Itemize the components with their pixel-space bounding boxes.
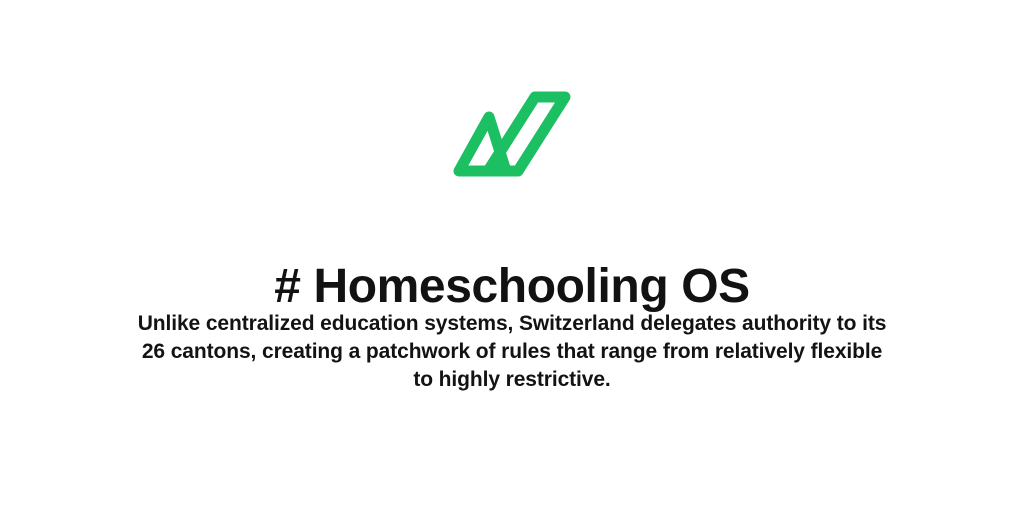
title-slide: # Homeschooling OS Unlike centralized ed… [0,0,1024,512]
page-title: # Homeschooling OS [0,260,1024,314]
subtitle-block: Unlike centralized education systems, Sw… [132,310,892,394]
subtitle-line: to highly restrictive. [132,366,892,394]
brand-mark-n-logo-icon [450,88,574,180]
subtitle-line: 26 cantons, creating a patchwork of rule… [132,338,892,366]
brand-logo [450,88,574,180]
subtitle-line: Unlike centralized education systems, Sw… [132,310,892,338]
